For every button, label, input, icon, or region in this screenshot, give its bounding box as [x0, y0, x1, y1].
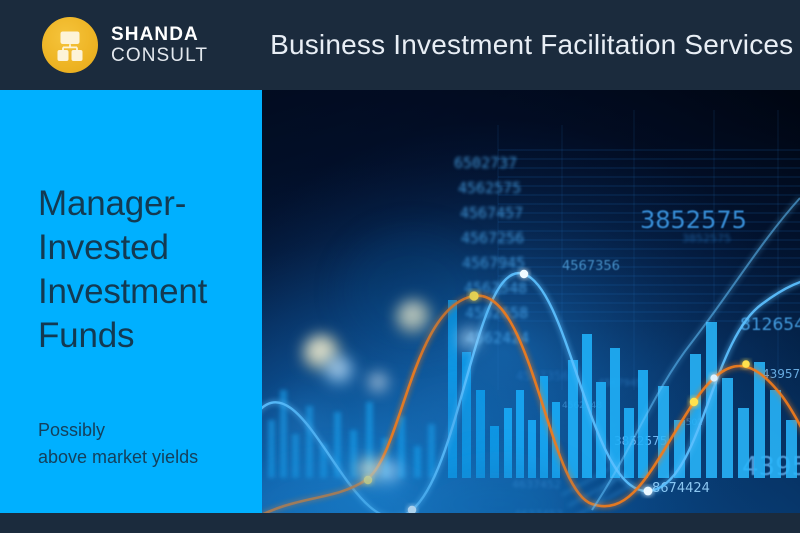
- svg-text:3852575: 3852575: [682, 232, 731, 245]
- subtitle-line-1: Possibly: [38, 420, 105, 440]
- brand-logo[interactable]: SHANDA CONSULT: [42, 17, 208, 73]
- header-title: Business Investment Facilitation Service…: [270, 29, 793, 61]
- header-bar: SHANDA CONSULT Business Investment Facil…: [0, 0, 800, 90]
- svg-text:3852575: 3852575: [640, 206, 747, 234]
- footer-bar: [0, 513, 800, 533]
- org-chart-icon: [42, 17, 98, 73]
- financial-chart-image: 6502737 4562575 4567457 4567256 4567945 …: [262, 90, 800, 513]
- svg-text:4562575: 4562575: [458, 179, 521, 197]
- brand-line-2: CONSULT: [111, 46, 208, 65]
- slide: SHANDA CONSULT Business Investment Facil…: [0, 0, 800, 533]
- svg-text:8674424: 8674424: [652, 481, 710, 496]
- title-line-2: Invested: [38, 228, 169, 267]
- brand-line-1: SHANDA: [111, 25, 208, 44]
- subtitle: Possibly above market yields: [38, 417, 250, 471]
- subtitle-line-2: above market yields: [38, 444, 250, 471]
- page-title: Manager- Invested Investment Funds: [38, 182, 243, 358]
- svg-text:6502737: 6502737: [454, 154, 517, 172]
- content-row: Manager- Invested Investment Funds Possi…: [0, 90, 800, 513]
- svg-text:4567356: 4567356: [562, 259, 620, 274]
- brand-wordmark: SHANDA CONSULT: [111, 25, 208, 65]
- title-line-3: Investment: [38, 272, 207, 311]
- svg-text:4567457: 4567457: [460, 204, 523, 222]
- title-line-4: Funds: [38, 316, 134, 355]
- left-panel: Manager- Invested Investment Funds Possi…: [0, 90, 262, 513]
- svg-text:4567256: 4567256: [461, 229, 524, 247]
- title-line-1: Manager-: [38, 184, 186, 223]
